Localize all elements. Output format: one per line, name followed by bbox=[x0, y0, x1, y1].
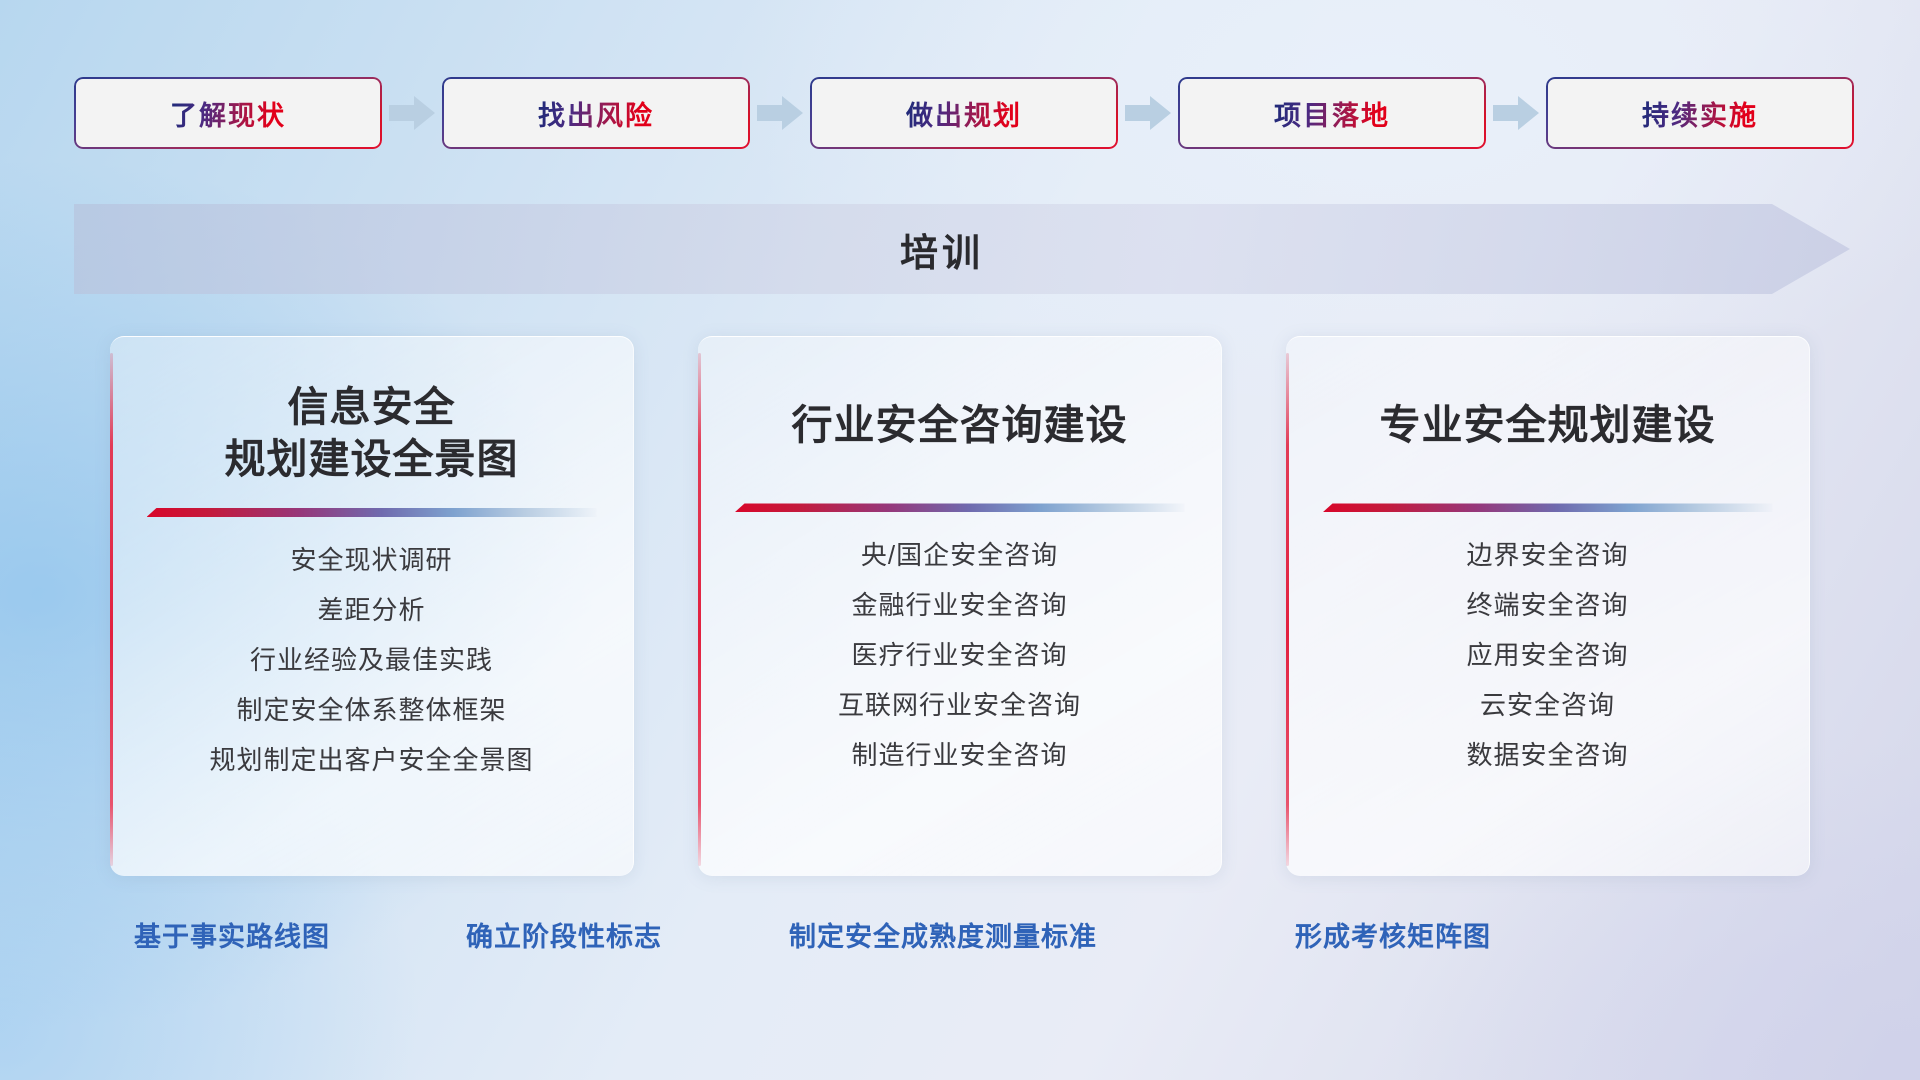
arrow-right-icon bbox=[1486, 93, 1546, 133]
list-item: 行业经验及最佳实践 bbox=[110, 647, 633, 673]
card-2[interactable]: 行业安全咨询建设 央/国企安全咨询 金融行业安全咨询 医疗行业安全咨询 互联网行… bbox=[698, 336, 1222, 876]
list-item: 央/国企安全咨询 bbox=[698, 542, 1221, 568]
arrow-right-icon bbox=[1118, 93, 1178, 133]
card-1[interactable]: 信息安全 规划建设全景图 安全现状调研 差距分析 行业经验及最佳实践 制定安全体… bbox=[110, 336, 634, 876]
card-1-divider bbox=[147, 508, 597, 517]
step-box-1[interactable]: 了解现状 bbox=[74, 77, 382, 149]
step-label-2: 找出风险 bbox=[538, 94, 654, 133]
list-item: 金融行业安全咨询 bbox=[698, 592, 1221, 618]
step-label-4: 项目落地 bbox=[1274, 94, 1390, 133]
card-3-title: 专业安全规划建设 bbox=[1380, 399, 1716, 451]
footer-label-4: 形成考核矩阵图 bbox=[1295, 915, 1491, 954]
step-label-5: 持续实施 bbox=[1642, 94, 1758, 133]
process-steps: 了解现状 找出风险 做出规划 项目落地 bbox=[74, 77, 1854, 149]
card-1-list: 安全现状调研 差距分析 行业经验及最佳实践 制定安全体系整体框架 规划制定出客户… bbox=[110, 547, 633, 797]
step-box-2[interactable]: 找出风险 bbox=[442, 77, 750, 149]
list-item: 制定安全体系整体框架 bbox=[110, 697, 633, 723]
list-item: 边界安全咨询 bbox=[1286, 542, 1809, 568]
card-3-divider bbox=[1323, 503, 1773, 512]
step-label-1: 了解现状 bbox=[170, 94, 286, 133]
card-2-list: 央/国企安全咨询 金融行业安全咨询 医疗行业安全咨询 互联网行业安全咨询 制造行… bbox=[698, 542, 1221, 792]
footer-label-1: 基于事实路线图 bbox=[134, 915, 330, 954]
arrow-right-icon bbox=[750, 93, 810, 133]
step-label-3: 做出规划 bbox=[906, 94, 1022, 133]
footer-labels: 基于事实路线图 确立阶段性标志 制定安全成熟度测量标准 形成考核矩阵图 bbox=[0, 915, 1920, 965]
step-box-4[interactable]: 项目落地 bbox=[1178, 77, 1486, 149]
training-banner: 培训 bbox=[74, 204, 1850, 294]
list-item: 应用安全咨询 bbox=[1286, 642, 1809, 668]
list-item: 制造行业安全咨询 bbox=[698, 742, 1221, 768]
card-3-list: 边界安全咨询 终端安全咨询 应用安全咨询 云安全咨询 数据安全咨询 bbox=[1286, 542, 1809, 792]
list-item: 差距分析 bbox=[110, 597, 633, 623]
card-2-title: 行业安全咨询建设 bbox=[792, 399, 1128, 451]
list-item: 终端安全咨询 bbox=[1286, 592, 1809, 618]
slide-canvas: 了解现状 找出风险 做出规划 项目落地 bbox=[0, 0, 1920, 1080]
arrow-right-icon bbox=[382, 93, 442, 133]
list-item: 互联网行业安全咨询 bbox=[698, 692, 1221, 718]
list-item: 安全现状调研 bbox=[110, 547, 633, 573]
banner-title: 培训 bbox=[74, 204, 1850, 294]
footer-label-3: 制定安全成熟度测量标准 bbox=[789, 915, 1097, 954]
list-item: 数据安全咨询 bbox=[1286, 742, 1809, 768]
card-3[interactable]: 专业安全规划建设 边界安全咨询 终端安全咨询 应用安全咨询 云安全咨询 数据安全… bbox=[1286, 336, 1810, 876]
card-2-divider bbox=[735, 503, 1185, 512]
card-1-title: 信息安全 规划建设全景图 bbox=[225, 381, 519, 486]
footer-label-2: 确立阶段性标志 bbox=[466, 915, 662, 954]
list-item: 规划制定出客户安全全景图 bbox=[110, 747, 633, 773]
list-item: 云安全咨询 bbox=[1286, 692, 1809, 718]
step-box-5[interactable]: 持续实施 bbox=[1546, 77, 1854, 149]
list-item: 医疗行业安全咨询 bbox=[698, 642, 1221, 668]
card-row: 信息安全 规划建设全景图 安全现状调研 差距分析 行业经验及最佳实践 制定安全体… bbox=[110, 336, 1810, 876]
step-box-3[interactable]: 做出规划 bbox=[810, 77, 1118, 149]
